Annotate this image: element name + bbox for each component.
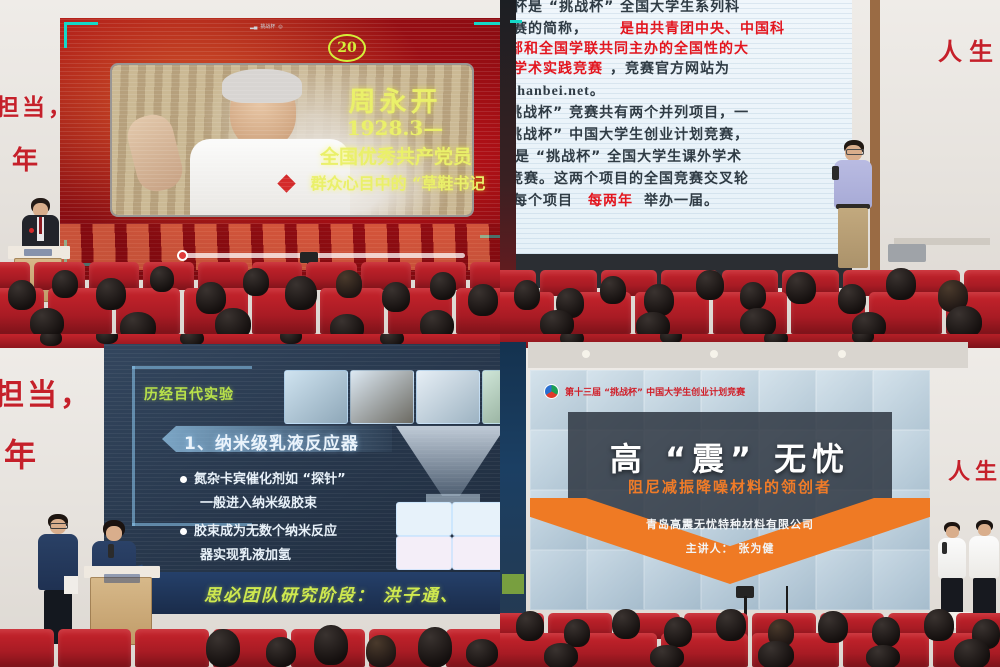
slide-person-title-2: 群众心目中的 “草鞋书记	[292, 170, 500, 194]
audience-head	[285, 276, 317, 310]
slide-bullet-4: 器实现乳液加氢	[200, 544, 291, 563]
presenter-glasses	[846, 149, 864, 155]
adjacent-screen-green-text	[502, 574, 524, 594]
slide-title: 高 “震” 无忧	[530, 434, 930, 480]
wall-text-1: 担当，	[0, 370, 93, 414]
podium-logo-left	[24, 249, 52, 256]
bullet-dot-icon	[180, 528, 187, 535]
audience-head	[466, 639, 498, 667]
teal-corner-icon	[510, 20, 522, 23]
slide-bullet-1: 氮杂卡宾催化剂如 “探针”	[180, 468, 346, 487]
adjacent-screen-edge	[500, 0, 516, 300]
audience-head	[696, 270, 724, 300]
diagram-cell	[396, 502, 452, 536]
slide-bracket-top	[132, 366, 252, 369]
slide-footer-text: 思必团队研究阶段： 洪子通、	[204, 581, 459, 606]
slide-line-8: 挑战杯” 竞赛共有两个并列项目，一	[508, 102, 749, 122]
audience-head	[206, 629, 240, 667]
audience-head	[120, 312, 156, 334]
audience-head	[40, 334, 62, 346]
audience-head	[516, 611, 544, 641]
slide-header-text: 第十三届 “挑战杯” 中国大学生创业计划竞赛	[565, 385, 745, 398]
bullet-text: 胶束成为无数个纳米反应	[194, 524, 337, 539]
slide-line-4: 育部和全国学联共同主办的全国性的大	[500, 38, 749, 58]
audience-head	[954, 639, 990, 667]
audience-head	[644, 284, 674, 316]
audience-head	[872, 617, 900, 647]
bullet-text: 一般进入纳米级胶束	[200, 496, 317, 511]
audience-head	[540, 310, 574, 334]
audience-head	[740, 308, 776, 334]
audience-head	[886, 268, 916, 300]
panel-top-left: 担当， 年 ▂▄ 挑战杯 ◎ 20	[0, 0, 500, 334]
audience-head	[30, 308, 64, 334]
teal-corner-tr	[474, 22, 500, 25]
presenter-shirt	[834, 160, 872, 208]
student-papers	[64, 576, 78, 594]
audience-head	[150, 266, 174, 292]
microphone[interactable]	[832, 166, 839, 180]
audience-head	[8, 280, 36, 310]
audience-head	[838, 284, 866, 314]
projection-screen-title-slide: 第十三届 “挑战杯” 中国大学生创业计划竞赛 高 “震” 无忧 阻尼减振降噪材料…	[530, 370, 930, 610]
mosaic-cell	[530, 550, 587, 610]
presenter-trousers	[838, 208, 868, 268]
audience-head	[544, 643, 578, 667]
audience-head	[664, 617, 692, 647]
audience-head	[758, 641, 794, 667]
audience-left-top	[0, 256, 500, 334]
slide-person-title-1: 全国优秀共产党员	[296, 142, 496, 169]
slide-line-9: 挑战杯” 中国大学生创业计划竞赛，	[508, 124, 749, 144]
panel-bottom-right: 人生	[500, 334, 1000, 667]
audience-head	[52, 270, 78, 298]
presenter-face	[946, 526, 959, 538]
slide-person-years: 1928.3—	[310, 116, 480, 140]
speaker-tie	[39, 217, 42, 234]
slide-bullet-2: 一般进入纳米级胶束	[200, 492, 317, 511]
wall-text-2: 年	[4, 430, 39, 476]
seat	[0, 629, 54, 667]
audience-head	[514, 280, 540, 310]
audience-head	[612, 609, 640, 639]
teal-corner-tl-h	[64, 22, 98, 25]
led-screen-red-slide: ▂▄ 挑战杯 ◎ 20 周永开 1928.3— 全国优秀共产党员 群众心目中的 …	[60, 18, 500, 280]
status-bar-label: 挑战杯	[260, 23, 275, 30]
wall-text-2: 年	[12, 140, 41, 177]
presenter-face	[978, 524, 991, 536]
experiment-thumbnail	[284, 370, 348, 424]
clock-icon: ◎	[278, 24, 282, 30]
teal-corner-tl-v	[64, 22, 67, 48]
audience-head	[716, 609, 746, 641]
photo-collage: 担当， 年 ▂▄ 挑战杯 ◎ 20	[0, 0, 1000, 667]
audience-head	[946, 306, 982, 334]
audience-right-top	[500, 262, 1000, 334]
audience-head	[740, 282, 766, 310]
audience-head	[564, 619, 590, 647]
projection-screen-navy-slide: 历经百代实验 1、纳米级乳液反应器 氮杂卡宾催化剂如 “探针” 一般进入纳米级胶…	[104, 344, 500, 614]
slide-line-13: 每两年	[588, 190, 633, 210]
seat	[58, 629, 132, 667]
slide-heading: 1、纳米级乳液反应器	[184, 429, 359, 454]
panel-top-right: 人生 战杯是 “挑战杯” 全国大学生系列科 竞赛的简称， 是由共青团中央、中国科…	[500, 0, 1000, 334]
audience-head	[924, 609, 954, 641]
audience-head	[468, 284, 498, 316]
audience-right-bottom	[500, 605, 1000, 667]
audience-head	[600, 276, 626, 304]
microphone[interactable]	[108, 544, 114, 558]
seat	[135, 629, 209, 667]
slide-person-name: 周永开	[310, 80, 480, 119]
audience-head	[266, 637, 296, 667]
presenter-shirt	[969, 536, 999, 578]
mosaic-cell	[873, 550, 930, 610]
audience-head	[366, 635, 396, 667]
slide-bullet-3: 胶束成为无数个纳米反应	[180, 520, 337, 539]
slide-line-1: 战杯是 “挑战杯” 全国大学生系列科	[500, 0, 740, 16]
panel-bottom-left: 担当， 年 历经百代实验 1、纳米级乳液反应器	[0, 334, 500, 667]
slide-subtitle: 阻尼减振降噪材料的领创者	[530, 476, 930, 497]
student-glasses	[50, 523, 68, 529]
video-status-bar: ▂▄ 挑战杯 ◎	[250, 23, 283, 30]
audience-head	[330, 314, 364, 334]
audience-head	[382, 282, 410, 312]
slide-bracket	[132, 366, 135, 526]
bullet-text: 氮杂卡宾催化剂如 “探针”	[194, 472, 346, 487]
mosaic-cell	[587, 550, 644, 610]
slide-line-14: 举办一届。	[644, 190, 719, 210]
audience-head	[96, 278, 126, 310]
wall-text-1: 人生	[948, 454, 1000, 486]
diagram-cell	[396, 536, 452, 570]
audience-head	[314, 625, 348, 665]
mosaic-cell	[816, 550, 873, 610]
audience-head	[786, 272, 816, 304]
ceiling-light	[838, 350, 846, 358]
bullet-text: 器实现乳液加氢	[200, 548, 291, 563]
audience-head	[852, 312, 886, 334]
audience-head	[818, 611, 848, 643]
audience-head	[636, 312, 670, 334]
microphone[interactable]	[942, 542, 947, 554]
slide-speaker: 主讲人： 张为健	[530, 540, 930, 556]
signal-icon: ▂▄	[250, 24, 257, 30]
slide-header-row: 第十三届 “挑战杯” 中国大学生创业计划竞赛	[544, 384, 745, 399]
audience-head	[418, 627, 452, 667]
audience-left-bottom	[0, 615, 500, 667]
competition-logo-icon	[544, 384, 559, 399]
diagram-cell	[452, 536, 500, 570]
audience-head	[650, 645, 684, 667]
audience-head	[196, 282, 226, 314]
slide-line-3: 是由共青团中央、中国科	[620, 18, 785, 38]
diagram-cell	[452, 502, 500, 536]
slide-organization: 青岛高震无忧特种材料有限公司	[530, 516, 930, 532]
ceiling-light	[582, 350, 590, 358]
screen-ceiling-soffit	[528, 342, 968, 368]
slide-line-10: 则是 “挑战杯” 全国大学生课外学术	[500, 146, 742, 166]
experiment-thumbnail	[482, 370, 500, 424]
slide-tag-label: 历经百代实验	[144, 384, 234, 404]
slide-number-badge: 20	[328, 34, 366, 62]
audience-head	[243, 268, 269, 296]
slide-line-11: 品竞赛。这两个项目的全国竞赛交叉轮	[500, 168, 749, 188]
speaker-face	[106, 526, 122, 541]
podium-logo-bottom-left	[104, 574, 140, 583]
presenter-with-microphone	[832, 140, 874, 268]
side-chair	[888, 244, 926, 262]
audience-head	[420, 310, 454, 334]
projection-screen-text-slide: 战杯是 “挑战杯” 全国大学生系列科 竞赛的简称， 是由共青团中央、中国科 育部…	[500, 0, 852, 254]
bullet-dot-icon	[180, 476, 187, 483]
audience-head	[336, 270, 362, 298]
speaker-badge	[29, 228, 34, 233]
experiment-thumbnail	[350, 370, 414, 424]
wall-text-1: 人生	[938, 32, 1000, 67]
experiment-thumbnail	[416, 370, 480, 424]
ceiling-light	[710, 350, 718, 358]
audience-head	[866, 645, 900, 667]
slide-line-6: ，竞赛官方网站为	[610, 58, 730, 78]
audience-head	[430, 272, 456, 300]
audience-head	[215, 308, 251, 334]
